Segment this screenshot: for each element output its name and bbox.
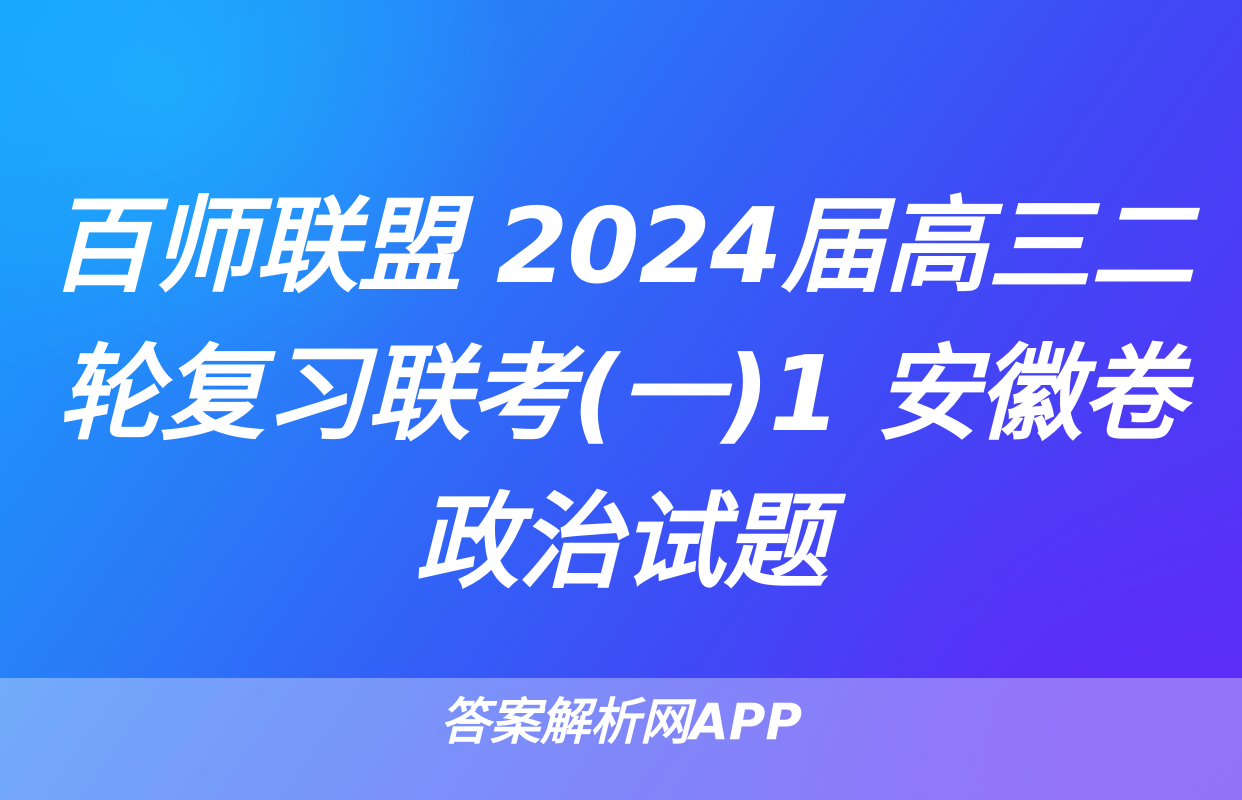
watermark-band: 答案解析网APP bbox=[0, 678, 1242, 800]
title-line-2: 轮复习联考(一)1 安徽卷 bbox=[0, 320, 1242, 468]
exam-cover-poster: 百师联盟 2024届高三二 轮复习联考(一)1 安徽卷 政治试题 答案解析网AP… bbox=[0, 0, 1242, 800]
title-line-3: 政治试题 bbox=[0, 468, 1242, 616]
watermark-label: 答案解析网APP bbox=[0, 694, 1242, 750]
title-line-1: 百师联盟 2024届高三二 bbox=[0, 172, 1242, 320]
poster-title: 百师联盟 2024届高三二 轮复习联考(一)1 安徽卷 政治试题 bbox=[0, 172, 1242, 616]
